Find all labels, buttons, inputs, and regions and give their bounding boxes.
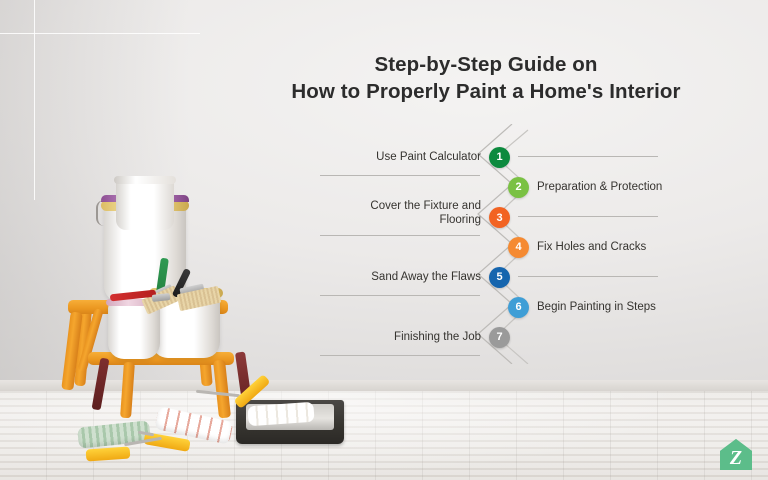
bucket-handle bbox=[96, 200, 108, 226]
step-badge-2: 2 bbox=[508, 177, 529, 198]
rule-left-1 bbox=[320, 175, 480, 176]
rule-left-4 bbox=[320, 355, 480, 356]
step-label-3: Cover the Fixture and Flooring bbox=[361, 199, 489, 227]
tool-handle-maroon bbox=[92, 358, 110, 411]
step-item-7[interactable]: Finishing the Job 7 bbox=[394, 322, 510, 352]
stool-leg-front-mid bbox=[120, 362, 135, 419]
infographic-canvas: Step-by-Step Guide on How to Properly Pa… bbox=[0, 0, 768, 480]
page-title: Step-by-Step Guide on How to Properly Pa… bbox=[252, 52, 720, 105]
step-badge-6: 6 bbox=[508, 297, 529, 318]
paint-roller-green bbox=[77, 420, 151, 448]
paint-roller-white-grip bbox=[86, 446, 131, 461]
step-badge-7: 7 bbox=[489, 327, 510, 348]
rule-right-3 bbox=[518, 276, 658, 277]
title-line-2: How to Properly Paint a Home's Interior bbox=[252, 78, 720, 105]
step-item-3[interactable]: Cover the Fixture and Flooring 3 bbox=[361, 194, 510, 232]
step-label-2: Preparation & Protection bbox=[529, 180, 662, 194]
step-item-2[interactable]: 2 Preparation & Protection bbox=[508, 172, 662, 202]
steps-infographic: Use Paint Calculator 1 2 Preparation & P… bbox=[300, 128, 700, 358]
step-label-7: Finishing the Job bbox=[394, 330, 489, 344]
paint-tub-lid bbox=[114, 176, 176, 184]
step-label-6: Begin Painting in Steps bbox=[529, 300, 656, 314]
step-label-5: Sand Away the Flaws bbox=[371, 270, 489, 284]
paint-tub-small-top bbox=[116, 180, 174, 230]
step-label-1: Use Paint Calculator bbox=[376, 150, 489, 164]
step-badge-3: 3 bbox=[489, 207, 510, 228]
step-item-4[interactable]: 4 Fix Holes and Cracks bbox=[508, 232, 646, 262]
step-label-4: Fix Holes and Cracks bbox=[529, 240, 646, 254]
step-badge-4: 4 bbox=[508, 237, 529, 258]
title-line-1: Step-by-Step Guide on bbox=[252, 52, 720, 78]
zameen-house-logo[interactable]: Z bbox=[718, 438, 754, 471]
logo-letter: Z bbox=[729, 447, 742, 469]
rule-right-2 bbox=[518, 216, 658, 217]
rule-left-3 bbox=[320, 295, 480, 296]
step-badge-5: 5 bbox=[489, 267, 510, 288]
rule-left-2 bbox=[320, 235, 480, 236]
step-item-6[interactable]: 6 Begin Painting in Steps bbox=[508, 292, 656, 322]
step-item-5[interactable]: Sand Away the Flaws 5 bbox=[371, 262, 510, 292]
step-badge-1: 1 bbox=[489, 147, 510, 168]
step-item-1[interactable]: Use Paint Calculator 1 bbox=[376, 142, 510, 172]
stool-leg-front-right bbox=[213, 360, 231, 419]
rule-right-1 bbox=[518, 156, 658, 157]
